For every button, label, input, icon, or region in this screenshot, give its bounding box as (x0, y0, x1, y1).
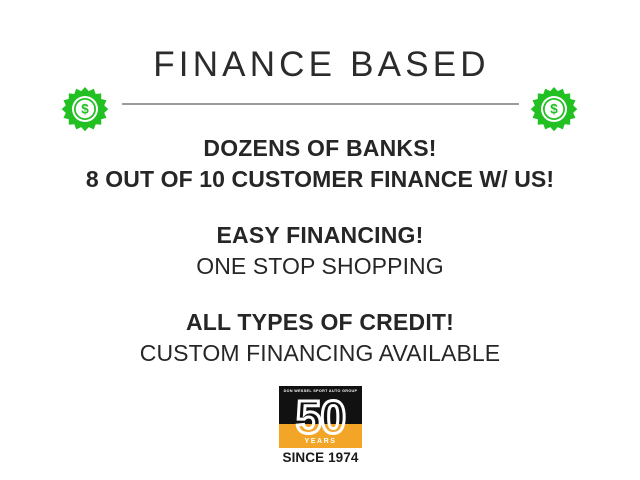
svg-text:$: $ (81, 102, 89, 117)
benefit-headline: DOZENS OF BANKS! (0, 134, 640, 163)
benefit-subline: ONE STOP SHOPPING (0, 250, 640, 282)
benefit-subline: 8 OUT OF 10 CUSTOMER FINANCE W/ US! (0, 163, 640, 195)
anniversary-number: 50 (279, 394, 362, 440)
svg-text:$: $ (550, 102, 558, 117)
anniversary-badge: DON WESSEL SPORT AUTO GROUP 50 YEARS (279, 386, 362, 448)
money-gear-icon: $ (60, 86, 110, 136)
benefit-headline: EASY FINANCING! (0, 221, 640, 250)
benefit-block: DOZENS OF BANKS! 8 OUT OF 10 CUSTOMER FI… (0, 134, 640, 195)
benefit-headline: ALL TYPES OF CREDIT! (0, 308, 640, 337)
title-divider (122, 103, 519, 105)
benefit-subline: CUSTOM FINANCING AVAILABLE (0, 337, 640, 369)
page-title: FINANCE BASED (120, 38, 520, 92)
benefit-block: EASY FINANCING! ONE STOP SHOPPING (0, 221, 640, 282)
benefit-block: ALL TYPES OF CREDIT! CUSTOM FINANCING AV… (0, 308, 640, 369)
benefits-copy: DOZENS OF BANKS! 8 OUT OF 10 CUSTOMER FI… (0, 134, 640, 369)
page-title-wrap: FINANCE BASED (120, 38, 520, 92)
finance-based-slide: $ FINANCE BASED $ DOZENS OF BANKS! 8 OUT (0, 0, 640, 480)
anniversary-years-label: YEARS (279, 438, 362, 446)
since-label: SINCE 1974 (279, 450, 362, 466)
dealer-logo: DON WESSEL SPORT AUTO GROUP 50 YEARS SIN… (279, 386, 362, 466)
money-gear-icon: $ (529, 86, 579, 136)
